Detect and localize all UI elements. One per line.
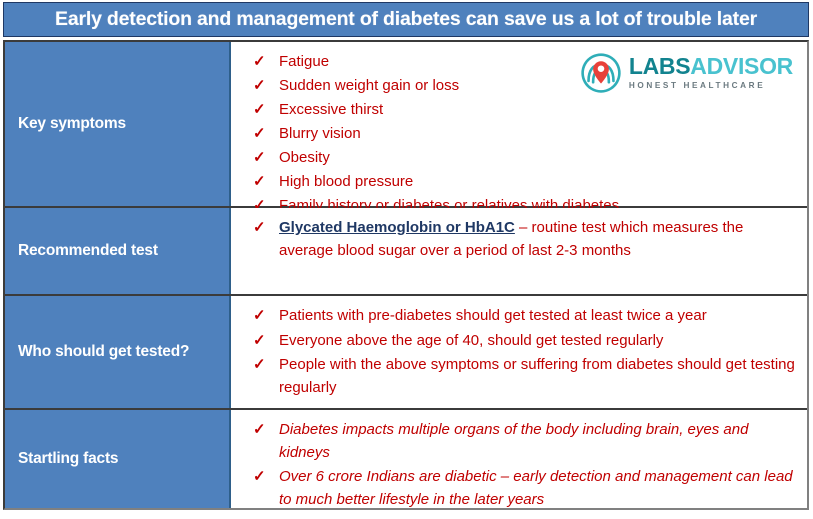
list-item-text: People with the above symptoms or suffer…: [279, 356, 795, 396]
recommended-test-list: ✓Glycated Haemoglobin or HbA1C – routine…: [245, 217, 797, 262]
check-icon: ✓: [253, 171, 266, 193]
row-label: Startling facts: [18, 450, 118, 469]
list-item: ✓Blurry vision: [245, 123, 797, 146]
row-content-who-should-get-tested: ✓Patients with pre-diabetes should get t…: [231, 296, 807, 408]
diabetes-infographic: Early detection and management of diabet…: [0, 0, 813, 519]
list-item: ✓Excessive thirst: [245, 99, 797, 122]
row-content-key-symptoms: ✓Fatigue ✓Sudden weight gain or loss ✓Ex…: [231, 42, 807, 206]
test-name-emphasis: Glycated Haemoglobin or HbA1C: [279, 219, 515, 236]
table-row: Who should get tested? ✓Patients with pr…: [5, 296, 807, 410]
list-item-text: Fatigue: [279, 53, 329, 70]
list-item: ✓Diabetes impacts multiple organs of the…: [245, 419, 797, 464]
table-row: Recommended test ✓Glycated Haemoglobin o…: [5, 208, 807, 296]
startling-facts-list: ✓Diabetes impacts multiple organs of the…: [245, 419, 797, 511]
list-item-text: Everyone above the age of 40, should get…: [279, 332, 663, 349]
check-icon: ✓: [253, 354, 266, 376]
check-icon: ✓: [253, 123, 266, 145]
check-icon: ✓: [253, 330, 266, 352]
info-table: Key symptoms ✓Fatigue ✓Sudden weight gai…: [3, 40, 809, 510]
list-item: ✓Obesity: [245, 147, 797, 170]
list-item-text: Blurry vision: [279, 125, 361, 142]
logo-wordmark: LABSADVISOR HONEST HEALTHCARE: [629, 55, 793, 90]
list-item-text: Over 6 crore Indians are diabetic – earl…: [279, 468, 793, 508]
list-item: ✓High blood pressure: [245, 171, 797, 194]
list-item: ✓Over 6 crore Indians are diabetic – ear…: [245, 466, 797, 511]
title-banner: Early detection and management of diabet…: [3, 2, 809, 37]
check-icon: ✓: [253, 305, 266, 327]
logo-word-primary: LABS: [629, 53, 690, 79]
list-item: ✓People with the above symptoms or suffe…: [245, 354, 797, 399]
list-item-text: Obesity: [279, 149, 330, 166]
list-item-text: Sudden weight gain or loss: [279, 77, 459, 94]
logo-tagline: HONEST HEALTHCARE: [629, 82, 793, 90]
list-item: ✓Glycated Haemoglobin or HbA1C – routine…: [245, 217, 797, 262]
table-row: Startling facts ✓Diabetes impacts multip…: [5, 410, 807, 508]
brand-logo: LABSADVISOR HONEST HEALTHCARE: [580, 52, 793, 94]
row-content-recommended-test: ✓Glycated Haemoglobin or HbA1C – routine…: [231, 208, 807, 294]
logo-word-row: LABSADVISOR: [629, 55, 793, 78]
list-item: ✓Patients with pre-diabetes should get t…: [245, 305, 797, 328]
location-pin-signal-icon: [580, 52, 622, 94]
check-icon: ✓: [253, 99, 266, 121]
who-tested-list: ✓Patients with pre-diabetes should get t…: [245, 305, 797, 399]
list-item-text: Excessive thirst: [279, 101, 383, 118]
row-label: Recommended test: [18, 242, 158, 261]
list-item-text: Diabetes impacts multiple organs of the …: [279, 421, 748, 461]
list-item: ✓Everyone above the age of 40, should ge…: [245, 330, 797, 353]
check-icon: ✓: [253, 75, 266, 97]
page-title: Early detection and management of diabet…: [55, 8, 757, 31]
check-icon: ✓: [253, 466, 266, 488]
row-label-cell-who-should-get-tested: Who should get tested?: [5, 296, 231, 408]
row-label: Who should get tested?: [18, 343, 189, 362]
logo-word-secondary: ADVISOR: [690, 53, 793, 79]
list-item-text: High blood pressure: [279, 173, 413, 190]
list-item-text: Patients with pre-diabetes should get te…: [279, 307, 707, 324]
row-label-cell-recommended-test: Recommended test: [5, 208, 231, 294]
check-icon: ✓: [253, 147, 266, 169]
row-label-cell-key-symptoms: Key symptoms: [5, 42, 231, 206]
row-content-startling-facts: ✓Diabetes impacts multiple organs of the…: [231, 410, 807, 508]
row-label: Key symptoms: [18, 115, 126, 134]
check-icon: ✓: [253, 51, 266, 73]
table-row: Key symptoms ✓Fatigue ✓Sudden weight gai…: [5, 42, 807, 208]
check-icon: ✓: [253, 419, 266, 441]
row-label-cell-startling-facts: Startling facts: [5, 410, 231, 508]
check-icon: ✓: [253, 217, 266, 239]
